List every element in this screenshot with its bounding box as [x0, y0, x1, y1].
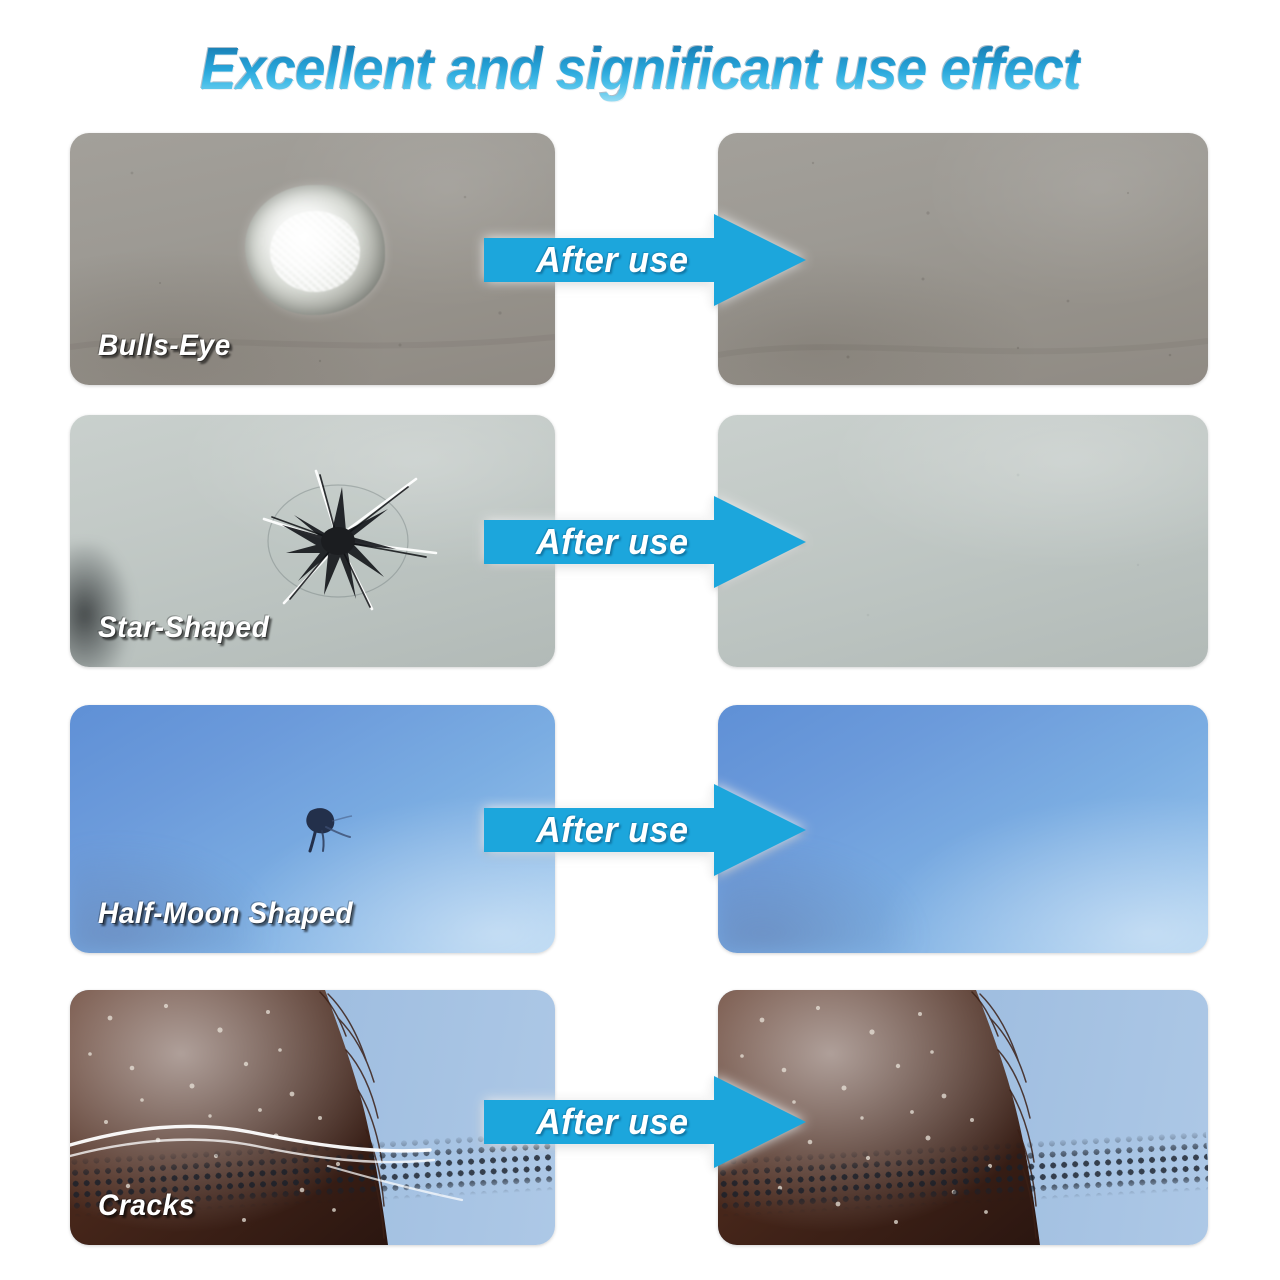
comparison-row-cracks: Cracks	[0, 990, 1280, 1245]
before-panel-cracks: Cracks	[70, 990, 555, 1245]
right-arrow-icon	[484, 784, 806, 876]
after-use-arrow-star-shaped: After use	[484, 496, 806, 588]
infographic-page: Excellent and significant use effect Bul…	[0, 0, 1280, 1280]
comparison-row-star-shaped: Star-Shaped After use	[0, 415, 1280, 667]
damage-label-bulls-eye: Bulls-Eye	[98, 329, 231, 363]
comparison-row-half-moon: Half-Moon Shaped After use	[0, 705, 1280, 953]
right-arrow-icon	[484, 1076, 806, 1168]
right-arrow-icon	[484, 214, 806, 306]
damage-label-half-moon: Half-Moon Shaped	[98, 897, 353, 931]
before-panel-half-moon: Half-Moon Shaped	[70, 705, 555, 953]
sky-haze	[70, 839, 274, 953]
damage-label-cracks: Cracks	[98, 1189, 195, 1223]
half-moon-chip-damage	[292, 801, 354, 855]
after-use-arrow-cracks: After use	[484, 1076, 806, 1168]
after-use-arrow-half-moon: After use	[484, 784, 806, 876]
star-shaped-crack-damage	[220, 457, 450, 622]
damage-label-star-shaped: Star-Shaped	[98, 611, 269, 645]
page-title: Excellent and significant use effect	[200, 35, 1080, 103]
page-title-container: Excellent and significant use effect	[0, 30, 1280, 108]
before-panel-star-shaped: Star-Shaped	[70, 415, 555, 667]
edge-smudge	[70, 543, 130, 667]
comparison-row-bulls-eye: Bulls-Eye After use	[0, 133, 1280, 385]
right-arrow-icon	[484, 496, 806, 588]
bulls-eye-chip-damage	[245, 185, 385, 315]
after-use-arrow-bulls-eye: After use	[484, 214, 806, 306]
before-panel-bulls-eye: Bulls-Eye	[70, 133, 555, 385]
